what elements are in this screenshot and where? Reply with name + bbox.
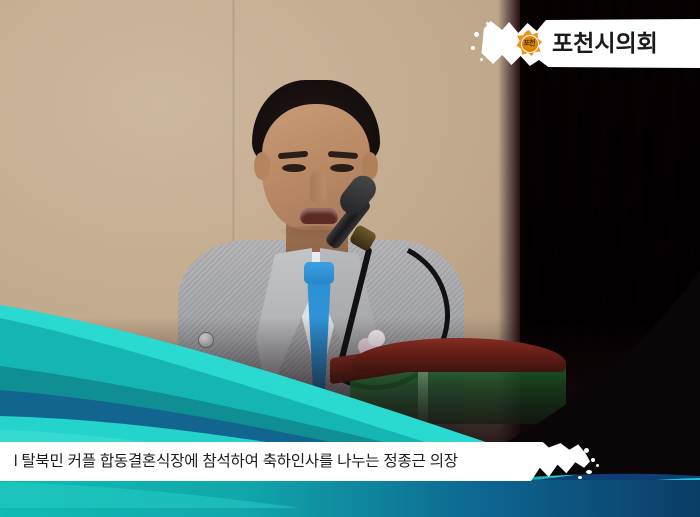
brush-speck [486, 22, 489, 25]
emblem-glyph: 포천 [521, 35, 537, 51]
brush-speck [474, 32, 479, 37]
council-emblem-icon: 포천 [516, 30, 542, 56]
image-canvas: l 탈북민 커플 합동결혼식장에 참석하여 축하인사를 나누는 정종근 의장 포… [0, 0, 700, 517]
logo-banner: 포천 포천시의회 [470, 18, 700, 68]
caption-brush-specks [0, 442, 600, 481]
brush-speck [471, 46, 475, 50]
organization-name: 포천시의회 [552, 27, 658, 59]
nose [310, 172, 326, 204]
eye-left [282, 164, 306, 172]
brush-speck [480, 58, 483, 61]
mouth [300, 208, 338, 224]
ear-left [254, 152, 270, 180]
eye-right [330, 164, 354, 172]
